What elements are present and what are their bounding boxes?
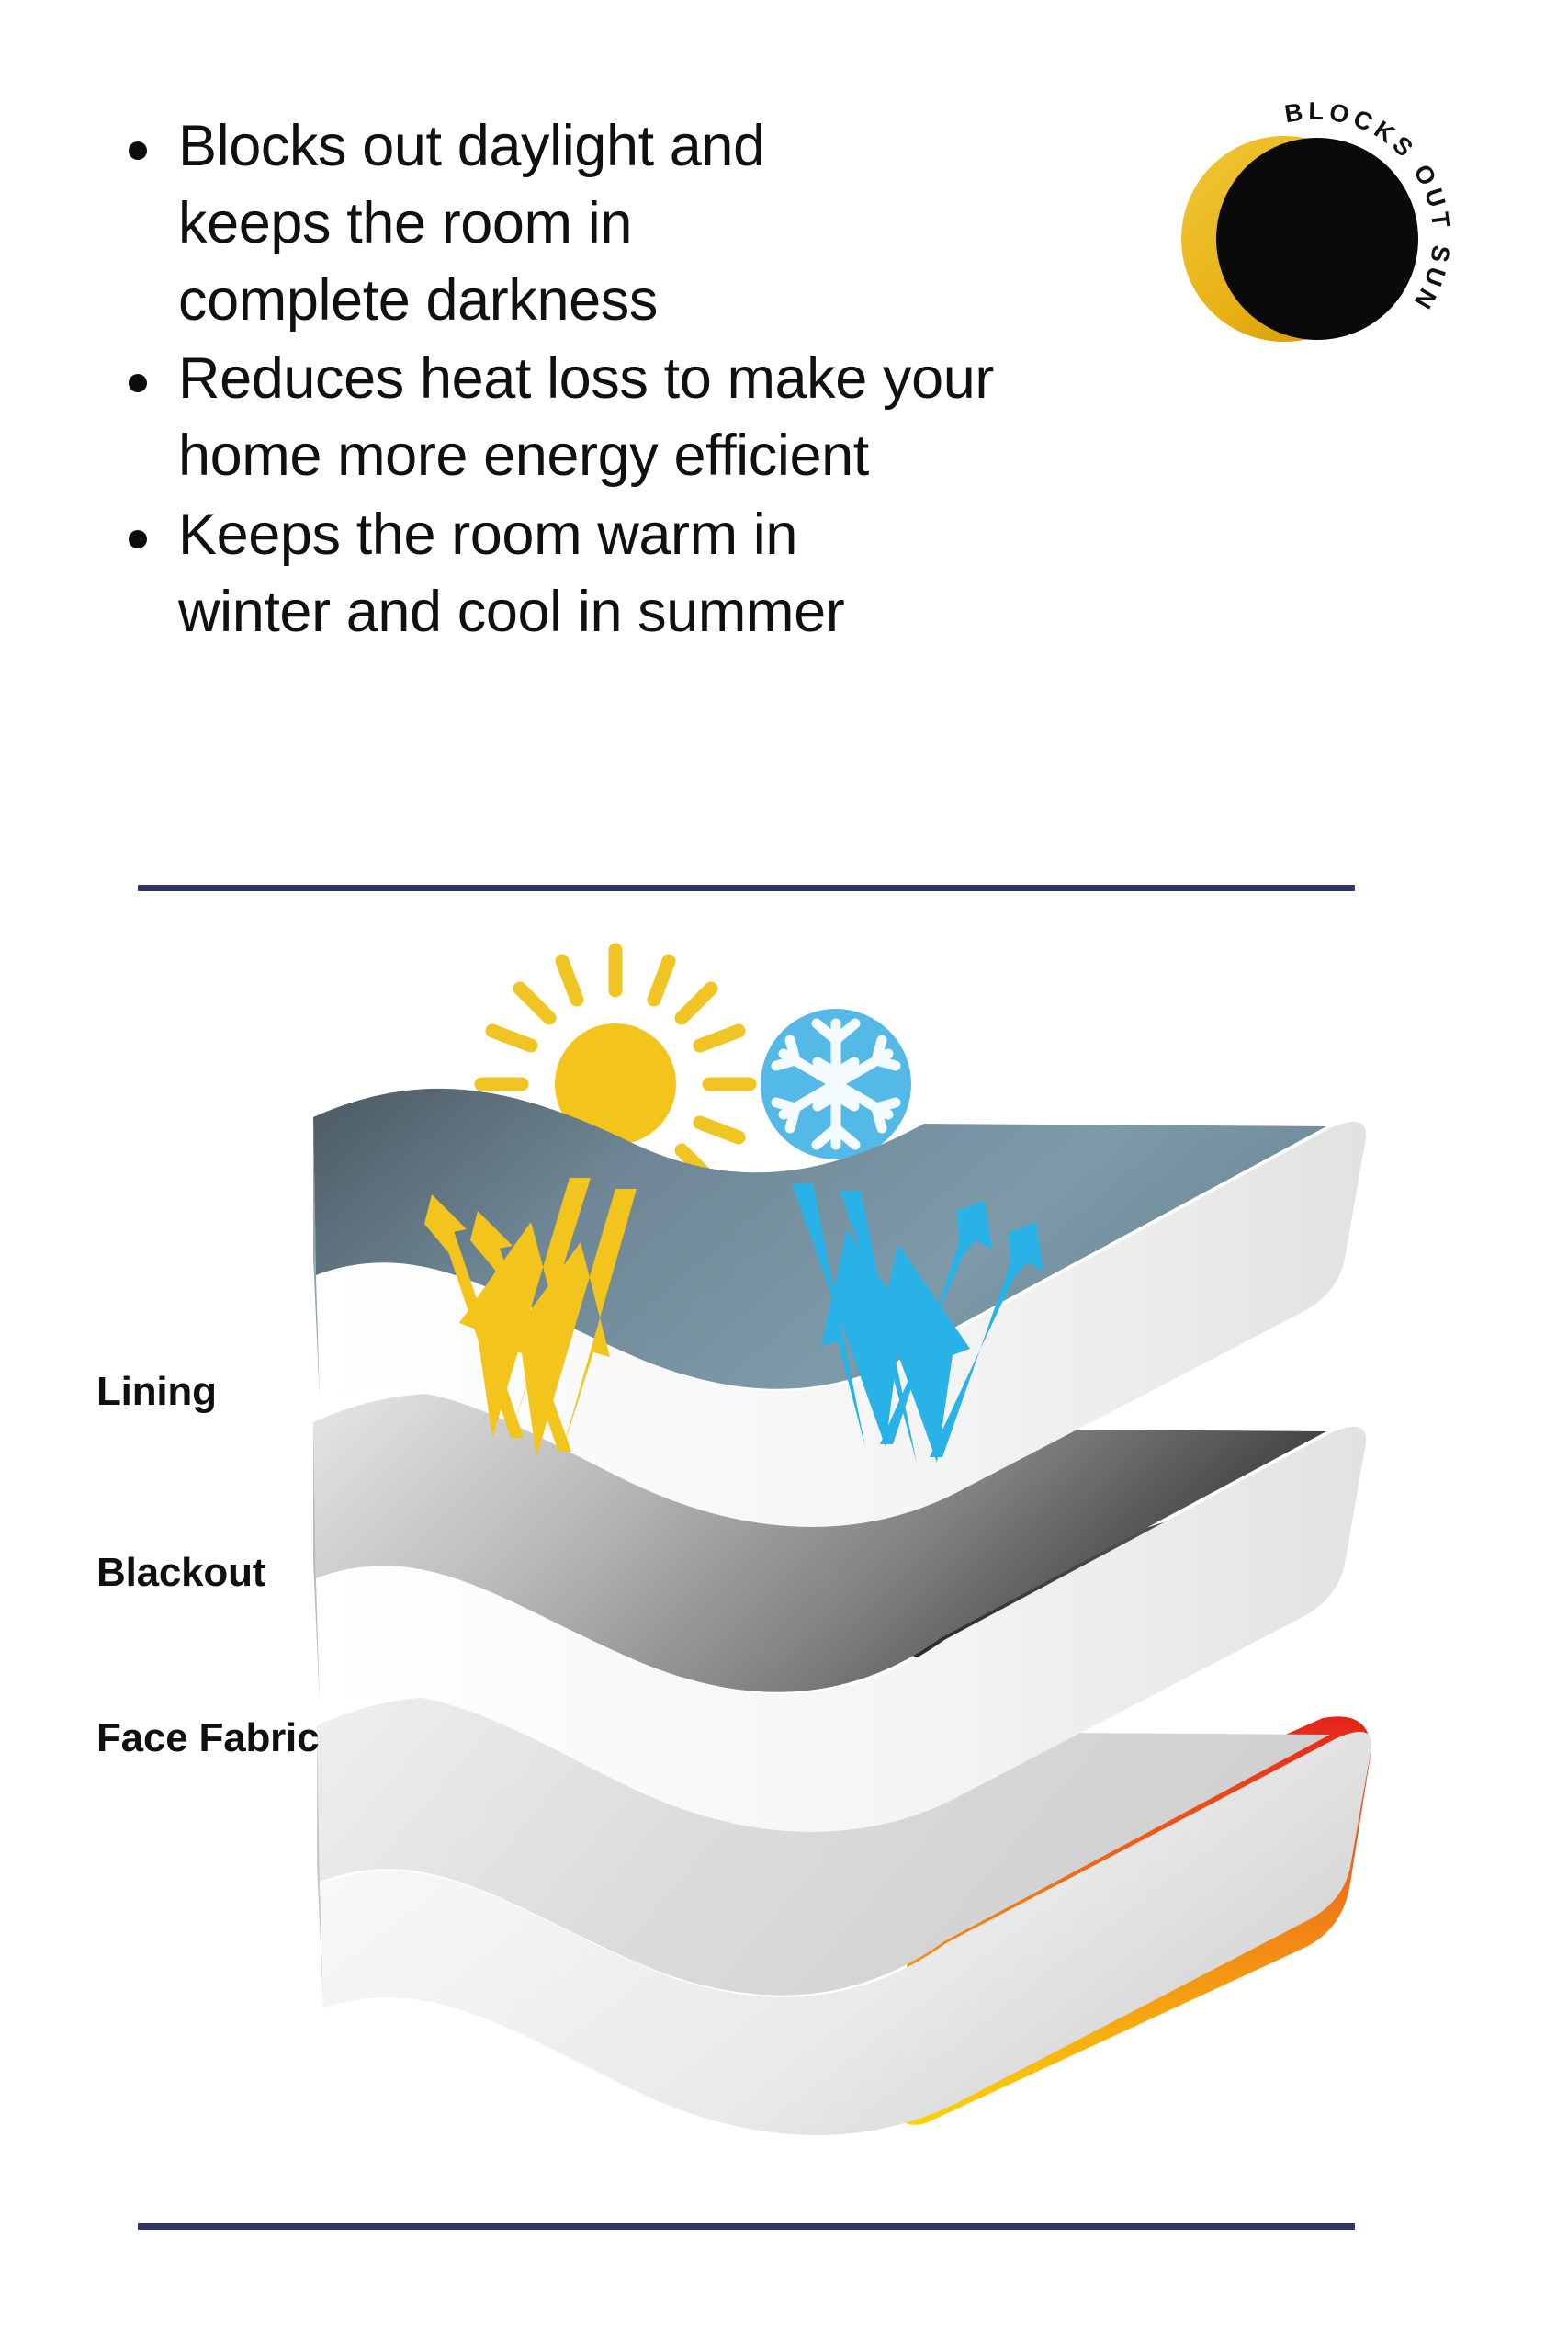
list-item: Keeps the room warm in winter and cool i… (129, 497, 1157, 651)
divider-bottom (138, 2223, 1355, 2230)
layer-label-lining: Lining (96, 1369, 217, 1415)
snowflake-icon (761, 1009, 911, 1159)
blocks-out-sun-badge: BLOCKS OUT SUN (1159, 81, 1472, 393)
feature-text-3: Keeps the room warm in winter and cool i… (178, 497, 1157, 651)
list-item: Reduces heat loss to make your home more… (129, 341, 1157, 495)
feature-bullet-list: Blocks out daylight and keeps the room i… (129, 108, 1157, 652)
bullet-dot-icon (129, 530, 147, 548)
feature-text-1: Blocks out daylight and keeps the room i… (178, 108, 1157, 339)
bullet-dot-icon (129, 374, 147, 392)
layer-label-blackout: Blackout (96, 1550, 265, 1596)
eclipse-disc-icon (1216, 138, 1418, 340)
feature-panel: Blocks out daylight and keeps the room i… (0, 0, 1568, 2352)
bullet-dot-icon (129, 141, 147, 160)
feature-text-2: Reduces heat loss to make your home more… (178, 341, 1157, 495)
fabric-layer-diagram (0, 937, 1568, 2159)
layer-label-face-fabric: Face Fabric (96, 1715, 319, 1761)
divider-top (138, 885, 1355, 891)
list-item: Blocks out daylight and keeps the room i… (129, 108, 1157, 339)
